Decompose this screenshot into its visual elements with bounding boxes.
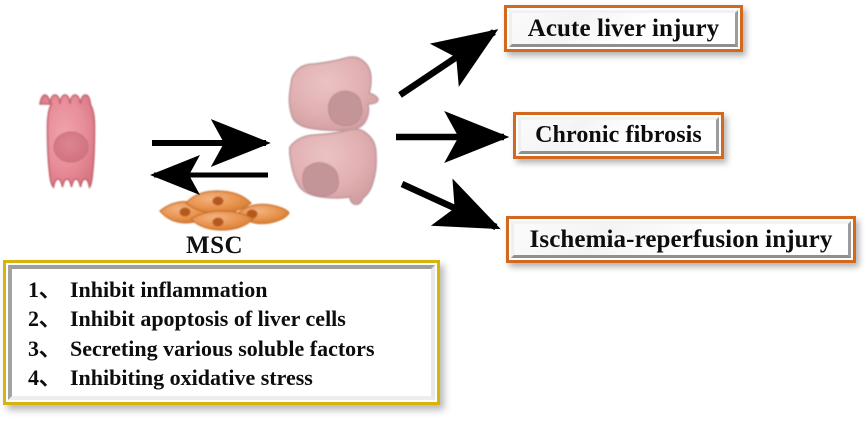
mechanism-item-text: Inhibit inflammation [70, 275, 267, 304]
outcome-box-inner: Chronic fibrosis [518, 117, 719, 154]
figure-canvas: MSC Acute liver injury Chronic fibrosis … [0, 0, 867, 422]
hepatocyte-pair-cells [289, 57, 378, 204]
outcome-box-chronic-fibrosis[interactable]: Chronic fibrosis [513, 112, 724, 159]
arrow-to-acute-liver-injury [400, 32, 494, 95]
outcome-label-acute-liver-injury: Acute liver injury [528, 15, 720, 43]
mechanism-item: 1、 Inhibit inflammation [28, 275, 431, 304]
mechanism-item-text: Secreting various soluble factors [70, 334, 375, 363]
mechanism-list-box: 1、 Inhibit inflammation 2、 Inhibit apopt… [3, 260, 440, 405]
mechanism-item-text: Inhibit apoptosis of liver cells [70, 304, 346, 333]
outcome-label-chronic-fibrosis: Chronic fibrosis [535, 122, 702, 149]
outcome-label-ischemia-reperfusion-injury: Ischemia-reperfusion injury [530, 226, 833, 254]
msc-label: MSC [186, 232, 243, 260]
arrow-to-ischemia-reperfusion-injury [402, 184, 496, 227]
hepatocyte-single-cell [40, 95, 95, 187]
outcome-box-inner: Acute liver injury [509, 10, 738, 47]
outcome-box-ischemia-reperfusion-injury[interactable]: Ischemia-reperfusion injury [506, 216, 856, 263]
msc-cluster-cells [160, 191, 289, 230]
mechanism-item: 4、 Inhibiting oxidative stress [28, 363, 431, 392]
mechanism-item: 2、 Inhibit apoptosis of liver cells [28, 304, 431, 333]
mechanism-item-number: 3、 [28, 334, 70, 363]
outcome-box-acute-liver-injury[interactable]: Acute liver injury [504, 5, 743, 52]
mechanism-item-text: Inhibiting oxidative stress [70, 363, 313, 392]
outcome-box-inner: Ischemia-reperfusion injury [511, 221, 851, 258]
mechanism-item-number: 1、 [28, 275, 70, 304]
mechanism-list-frame: 1、 Inhibit inflammation 2、 Inhibit apopt… [8, 265, 435, 400]
mechanism-item: 3、 Secreting various soluble factors [28, 334, 431, 363]
mechanism-item-number: 4、 [28, 363, 70, 392]
mechanism-item-number: 2、 [28, 304, 70, 333]
